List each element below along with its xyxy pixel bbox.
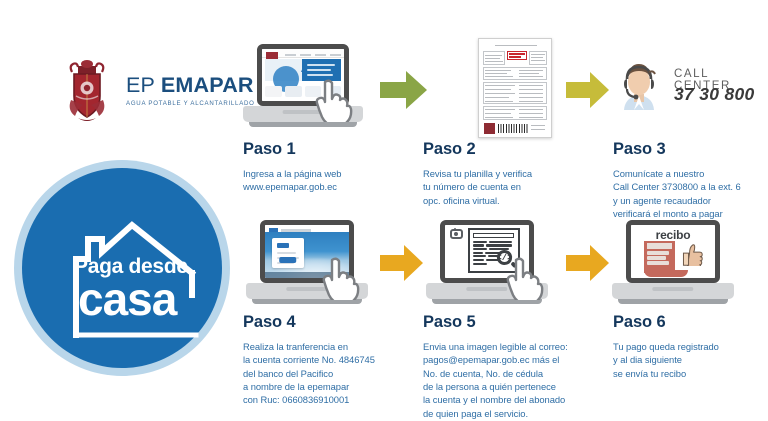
step-2-body: Revisa tu planilla y verifica tu número … — [423, 167, 593, 207]
laptop-bank-icon — [246, 220, 368, 308]
utility-bill-icon — [478, 38, 552, 138]
logo-subtitle: AGUA POTABLE Y ALCANTARILLADO — [126, 100, 255, 107]
step-3-title: Paso 3 — [613, 140, 666, 159]
step-3-body: Comunícate a nuestro Call Center 3730800… — [613, 167, 768, 220]
headset-agent-icon — [616, 58, 662, 112]
arrow-step5-to-step6 — [566, 244, 610, 282]
laptop-document-scan-icon: </> — [426, 220, 548, 308]
infographic-canvas: EP EMAPAR AGUA POTABLE Y ALCANTARILLADO … — [0, 0, 768, 421]
laptop-receipt-icon: recibo — [612, 220, 734, 308]
arrow-step1-to-step2 — [380, 70, 428, 110]
logo-main-light: EP — [126, 73, 161, 97]
step-4-body: Realiza la tranferencia en la cuenta cor… — [243, 340, 413, 407]
coat-of-arms-icon — [64, 56, 110, 126]
logo-wordmark: EP EMAPAR AGUA POTABLE Y ALCANTARILLADO — [126, 75, 255, 107]
arrow-step2-to-step3 — [566, 71, 610, 109]
step-5-title: Paso 5 — [423, 313, 476, 332]
thumbs-up-icon — [680, 243, 705, 266]
hand-cursor-icon — [506, 256, 546, 300]
step-4-title: Paso 4 — [243, 313, 296, 332]
logo-main-bold: EMAPAR — [161, 73, 254, 97]
brand-logo: EP EMAPAR AGUA POTABLE Y ALCANTARILLADO — [64, 54, 240, 128]
camera-icon — [450, 229, 463, 239]
hand-cursor-icon — [315, 78, 355, 122]
call-center-icon: CALL CENTER 37 30 800 — [616, 58, 766, 114]
step-1-body: Ingresa a la página web www.epemapar.gob… — [243, 167, 408, 194]
step-6-body: Tu pago queda registrado y al dia siguie… — [613, 340, 765, 380]
step-2-title: Paso 2 — [423, 140, 476, 159]
step-1-title: Paso 1 — [243, 140, 296, 159]
paga-desde-casa-badge: Paga desde casa — [14, 160, 230, 376]
arrow-step4-to-step5 — [380, 244, 424, 282]
step-5-body: Envia una imagen legible al correo: pago… — [423, 340, 601, 420]
receipt-icon — [644, 241, 674, 273]
laptop-website-icon: AGUA — [243, 44, 363, 132]
step-6-title: Paso 6 — [613, 313, 666, 332]
call-center-number: 37 30 800 — [674, 84, 755, 105]
hand-cursor-icon — [322, 256, 362, 300]
bank-login-card — [272, 238, 304, 269]
badge-line-2: casa — [78, 276, 176, 322]
